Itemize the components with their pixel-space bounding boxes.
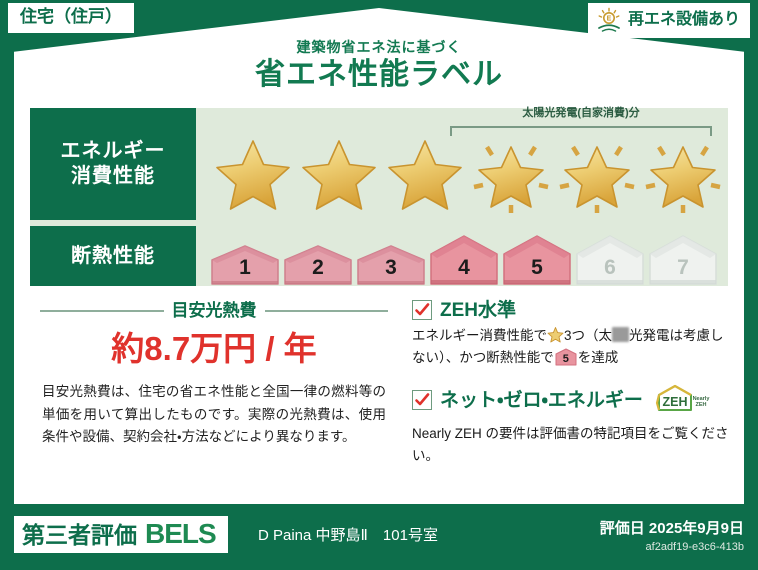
details-columns: 目安光熱費 約8.7万円 / 年 目安光熱費は、住宅の省エネ性能と全国一律の燃料… bbox=[30, 298, 730, 494]
utility-cost-heading-label: 目安光熱費 bbox=[172, 302, 257, 319]
energy-performance-row: エネルギー 消費性能 太陽光発電(自家消費)分 bbox=[30, 108, 728, 220]
insulation-segment-4-number: 4 bbox=[429, 257, 499, 278]
category-tag-label: 住宅（住戸） bbox=[20, 7, 122, 26]
bels-badge: 第三者評価 BELS bbox=[14, 516, 228, 553]
utility-cost-note: 目安光熱費は、住宅の省エネ性能と全国一律の燃料等の単価を用いて算出したものです。… bbox=[30, 381, 398, 448]
evaluation-info: 評価日 2025年9月9日 af2adf19-e3c6-413b bbox=[600, 520, 744, 555]
zeh-body-text-4: を達成 bbox=[578, 350, 619, 365]
insulation-segment-5: 5 bbox=[502, 234, 572, 286]
insulation-label: 断熱性能 bbox=[71, 244, 155, 269]
zeh-nearly-logo-icon: ZEH Nearly ZEH bbox=[655, 383, 711, 418]
zeh-standard-body: エネルギー消費性能で3つ（太光発電は考慮しない）、かつ断熱性能で5を達成 bbox=[412, 325, 730, 369]
certification-column: ZEH水準 エネルギー消費性能で3つ（太光発電は考慮しない）、かつ断熱性能で5を… bbox=[398, 298, 730, 494]
redacted-character bbox=[612, 327, 629, 342]
insulation-segment-2: 2 bbox=[283, 244, 353, 286]
zeh-standard-heading: ZEH水準 bbox=[412, 300, 730, 320]
insulation-segment-3: 3 bbox=[356, 244, 426, 286]
star-icon bbox=[210, 131, 296, 217]
insulation-segment-1-number: 1 bbox=[210, 257, 280, 278]
star-icon bbox=[296, 131, 382, 217]
insulation-segment-7-number: 7 bbox=[648, 257, 718, 278]
bels-badge-en: BELS bbox=[145, 520, 216, 548]
star-rating bbox=[196, 130, 728, 218]
title-subtitle: 建築物省エネ法に基づく bbox=[0, 40, 758, 55]
insulation-segment-4: 4 bbox=[429, 234, 499, 286]
insulation-segment-7: 7 bbox=[648, 234, 718, 286]
insulation-rating-area: 1 2 bbox=[196, 226, 728, 286]
solar-star-icon bbox=[554, 131, 640, 217]
insulation-performance-label-box: 断熱性能 bbox=[30, 226, 196, 286]
solar-caption: 太陽光発電(自家消費)分 bbox=[450, 108, 712, 119]
zeh-standard-title: ZEH水準 bbox=[440, 301, 516, 320]
renewable-tag-label: 再エネ設備あり bbox=[628, 12, 740, 28]
building-name: D Paina 中野島Ⅱ 101号室 bbox=[258, 528, 438, 543]
svg-text:ZEH: ZEH bbox=[695, 402, 706, 408]
energy-label-line1: エネルギー bbox=[61, 139, 166, 164]
sun-icon: E bbox=[596, 7, 622, 33]
zeh-standard-checkbox[interactable] bbox=[412, 300, 432, 320]
net-zero-energy-checkbox[interactable] bbox=[412, 390, 432, 410]
insulation-segment-6: 6 bbox=[575, 234, 645, 286]
insulation-segment-1: 1 bbox=[210, 244, 280, 286]
insulation-performance-row: 断熱性能 1 bbox=[30, 226, 728, 286]
insulation-segments: 1 2 bbox=[210, 226, 718, 286]
zeh-standard-item: ZEH水準 エネルギー消費性能で3つ（太光発電は考慮しない）、かつ断熱性能で5を… bbox=[412, 300, 730, 369]
energy-performance-label: 住宅（住戸） E 再エネ設備あり 建築物省エネ法に基づく 省エネ性能ラベル bbox=[0, 0, 758, 570]
energy-performance-label-box: エネルギー 消費性能 bbox=[30, 108, 196, 220]
net-zero-energy-item: ネット・ゼロ・エネルギー ZEH Nearly ZEH bbox=[412, 383, 730, 467]
solar-star-icon bbox=[468, 131, 554, 217]
energy-label-line2: 消費性能 bbox=[71, 164, 155, 189]
svg-text:E: E bbox=[607, 16, 612, 23]
zeh-body-text-1: エネルギー消費性能で bbox=[412, 328, 547, 343]
utility-cost-heading: 目安光熱費 bbox=[30, 302, 398, 319]
evaluation-id: af2adf19-e3c6-413b bbox=[600, 540, 744, 555]
net-zero-energy-title: ネット・ゼロ・エネルギー bbox=[440, 391, 643, 410]
label-body-card: エネルギー 消費性能 太陽光発電(自家消費)分 bbox=[14, 100, 744, 504]
zeh-body-text-2: 3つ（太 bbox=[564, 328, 612, 343]
star-icon bbox=[382, 131, 468, 217]
heading-rule-right bbox=[265, 310, 389, 312]
net-zero-energy-body: Nearly ZEH の要件は評価書の特記項目をご覧ください。 bbox=[412, 423, 730, 467]
insulation-grade-badge-number: 5 bbox=[555, 354, 577, 365]
label-footer: 第三者評価 BELS D Paina 中野島Ⅱ 101号室 評価日 2025年9… bbox=[0, 504, 758, 570]
insulation-grade-badge: 5 bbox=[555, 348, 577, 366]
solar-star-icon bbox=[640, 131, 726, 217]
renewable-equipment-tag: E 再エネ設備あり bbox=[588, 3, 750, 38]
utility-cost-column: 目安光熱費 約8.7万円 / 年 目安光熱費は、住宅の省エネ性能と全国一律の燃料… bbox=[30, 298, 398, 494]
heading-rule-left bbox=[40, 310, 164, 312]
title-block: 建築物省エネ法に基づく 省エネ性能ラベル bbox=[0, 40, 758, 93]
bels-badge-jp: 第三者評価 bbox=[22, 524, 137, 547]
energy-rating-area: 太陽光発電(自家消費)分 bbox=[196, 108, 728, 220]
evaluation-date: 評価日 2025年9月9日 bbox=[600, 520, 744, 538]
title-main: 省エネ性能ラベル bbox=[0, 57, 758, 93]
utility-cost-value: 約8.7万円 / 年 bbox=[30, 331, 398, 367]
column-divider bbox=[396, 298, 399, 488]
performance-panel: エネルギー 消費性能 太陽光発電(自家消費)分 bbox=[30, 108, 728, 286]
insulation-segment-3-number: 3 bbox=[356, 257, 426, 278]
net-zero-energy-heading: ネット・ゼロ・エネルギー ZEH Nearly ZEH bbox=[412, 383, 730, 418]
star-icon bbox=[547, 326, 564, 343]
insulation-segment-6-number: 6 bbox=[575, 257, 645, 278]
insulation-segment-2-number: 2 bbox=[283, 257, 353, 278]
svg-text:ZEH: ZEH bbox=[662, 395, 687, 409]
insulation-segment-5-number: 5 bbox=[502, 257, 572, 278]
category-tag: 住宅（住戸） bbox=[8, 3, 134, 33]
